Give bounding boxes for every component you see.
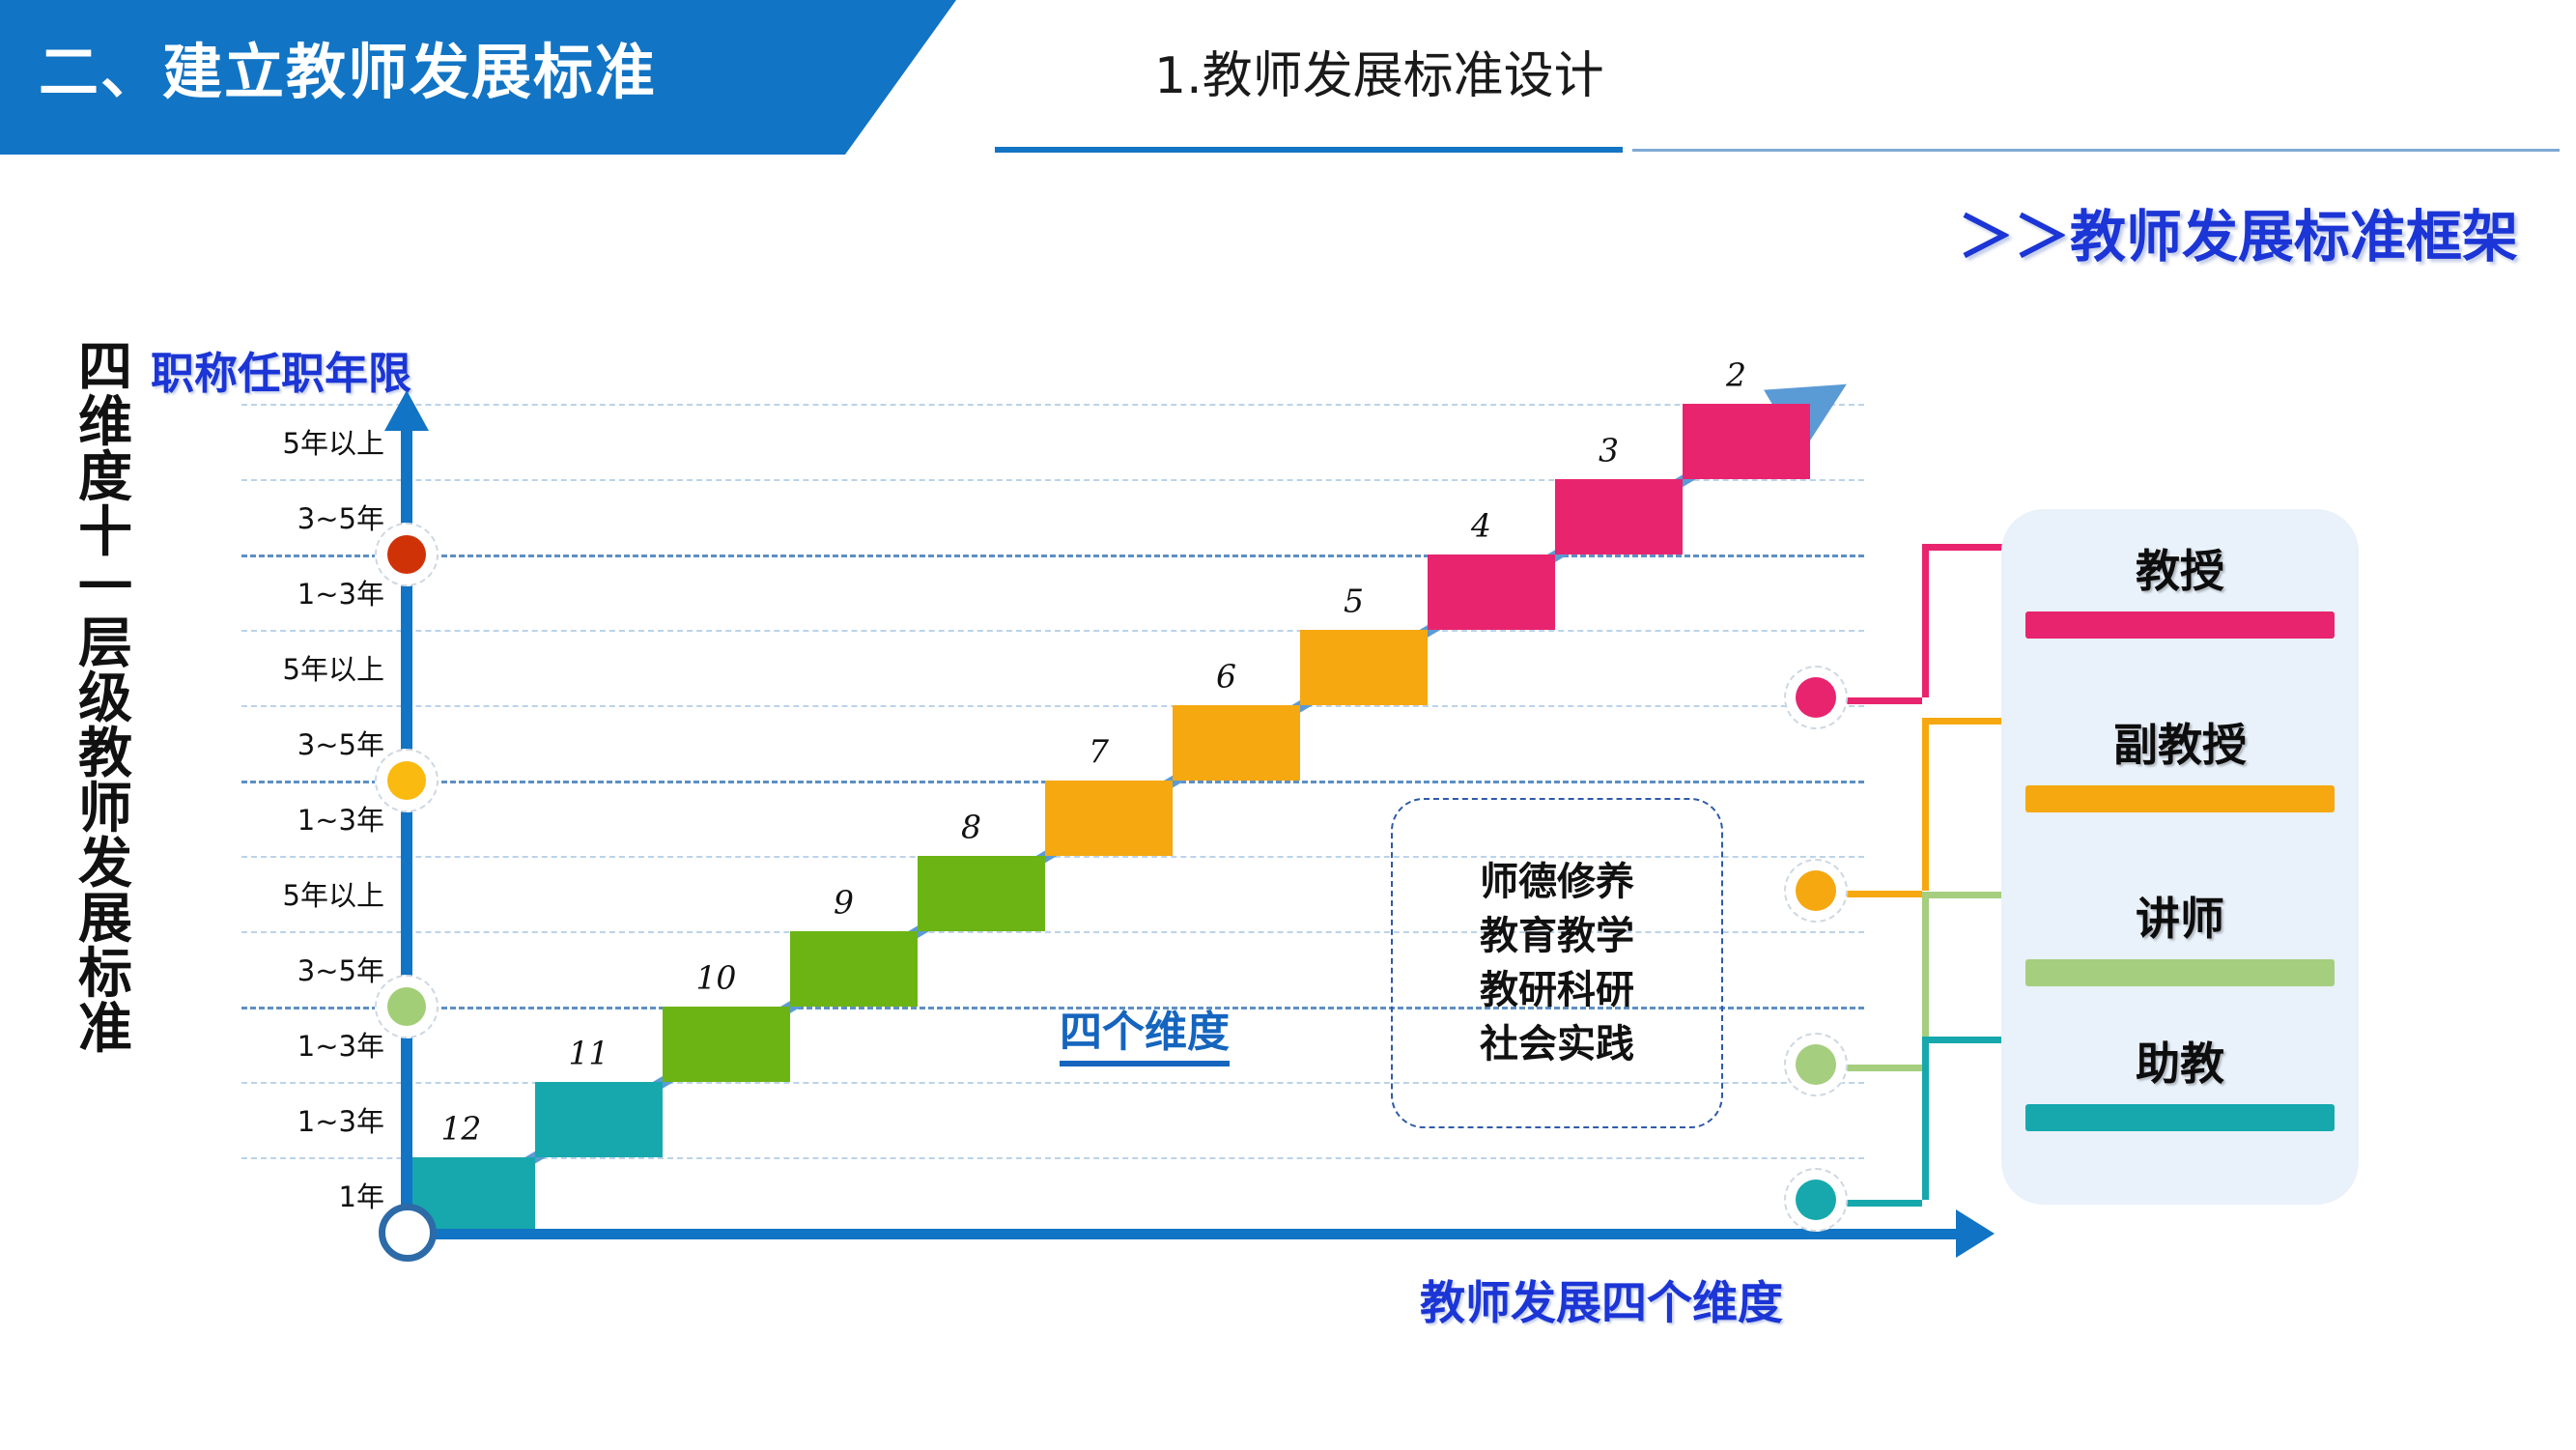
y-tick-label: 3~5年 [297, 497, 384, 537]
staircase-chart: 职称任职年限 教师发展四个维度 1年1~3年1~3年3~5年5年以上1~3年3~… [164, 367, 1864, 1256]
connector-segment [1922, 718, 1929, 891]
step-label: 2 [1726, 356, 1746, 394]
rank-label: 教授 [2001, 536, 2359, 600]
step-label: 12 [440, 1110, 481, 1148]
connector-dot-icon [1796, 1044, 1836, 1085]
header-rule-primary [995, 147, 1623, 153]
staircase-step [535, 1082, 663, 1157]
dimension-item: 社会实践 [1480, 1022, 1634, 1066]
step-label: 6 [1216, 658, 1236, 696]
step-label: 5 [1344, 583, 1364, 620]
grid-line [241, 705, 1864, 707]
staircase-step [1045, 781, 1173, 856]
dimension-item: 师德修养 [1480, 860, 1634, 904]
step-label: 3 [1599, 432, 1619, 469]
staircase-step [1173, 705, 1300, 781]
dimension-item: 教育教学 [1480, 914, 1634, 958]
marker-dot-icon [387, 535, 426, 574]
vertical-side-label: 四维度十一层级教师发展标准 [60, 340, 151, 1057]
rank-label: 助教 [2001, 1029, 2359, 1093]
staircase-step [1300, 630, 1428, 705]
marker-dot-icon [387, 761, 426, 800]
connector-dot-associate-professor[interactable] [1784, 859, 1848, 923]
grid-line [241, 404, 1864, 406]
y-axis-arrow-icon [384, 390, 429, 431]
step-label: 10 [695, 959, 736, 997]
rank-color-bar [2025, 959, 2335, 986]
y-tick-label: 5年以上 [283, 873, 384, 914]
rank-item-lecturer[interactable]: 讲师 [2001, 884, 2359, 986]
y-tick-label: 3~5年 [297, 949, 384, 989]
rank-label: 讲师 [2001, 884, 2359, 948]
four-dimensions-label: 四个维度 [1060, 997, 1230, 1066]
y-axis-title: 职称任职年限 [151, 338, 411, 401]
connector-dot-icon [1796, 1180, 1836, 1220]
y-tick-label: 5年以上 [283, 421, 384, 462]
y-tick-label: 1~3年 [297, 1099, 384, 1140]
slide-header: 二、建立教师发展标准 1.教师发展标准设计 [0, 0, 2576, 155]
dimension-item: 教研科研 [1480, 968, 1634, 1012]
step-label: 9 [834, 884, 854, 922]
step-label: 4 [1471, 507, 1491, 545]
axis-marker-green [375, 975, 439, 1038]
staircase-step [1555, 479, 1683, 554]
dimensions-box: 师德修养 教育教学 教研科研 社会实践 [1391, 798, 1723, 1128]
staircase-step [1683, 404, 1810, 479]
connector-dot-professor[interactable] [1784, 666, 1848, 729]
y-tick-label: 1~3年 [297, 1024, 384, 1065]
y-tick-label: 3~5年 [297, 723, 384, 763]
step-label: 11 [568, 1035, 609, 1072]
rank-color-bar [2025, 785, 2335, 812]
connector-dot-icon [1796, 677, 1836, 718]
section-title: 二、建立教师发展标准 [39, 23, 657, 110]
rank-color-bar [2025, 1104, 2335, 1131]
framework-heading: ＞＞教师发展标准框架 [1958, 191, 2518, 272]
grid-line [241, 630, 1864, 632]
rank-item-associate-professor[interactable]: 副教授 [2001, 710, 2359, 812]
connector-segment [1922, 892, 2004, 898]
step-label: 8 [961, 809, 981, 846]
y-tick-label: 5年以上 [283, 647, 384, 688]
staircase-step [790, 931, 918, 1007]
step-label: 7 [1089, 733, 1109, 771]
connector-dot-assistant[interactable] [1784, 1168, 1848, 1232]
rank-item-assistant[interactable]: 助教 [2001, 1029, 2359, 1131]
connector-segment [1922, 1037, 1929, 1200]
x-axis-title: 教师发展四个维度 [1420, 1265, 1783, 1332]
slide-root: 二、建立教师发展标准 1.教师发展标准设计 ＞＞教师发展标准框架 四维度十一层级… [0, 0, 2576, 1450]
connector-segment [1922, 544, 2004, 551]
x-axis-arrow-icon [1956, 1209, 1995, 1258]
y-tick-label: 1~3年 [297, 798, 384, 839]
staircase-step [918, 856, 1045, 931]
staircase-step [1428, 554, 1555, 630]
x-axis-line [407, 1229, 1962, 1239]
rank-item-professor[interactable]: 教授 [2001, 536, 2359, 639]
vertical-side-label-text: 四维度十一层级教师发展标准 [60, 340, 151, 1057]
y-tick-label: 1年 [339, 1175, 384, 1215]
grid-line [241, 554, 1864, 557]
connector-dot-lecturer[interactable] [1784, 1033, 1848, 1096]
header-rule-secondary [1632, 149, 2560, 152]
rank-color-bar [2025, 611, 2335, 639]
connector-segment [1922, 544, 1929, 697]
staircase-step [663, 1007, 790, 1082]
page-title: 1.教师发展标准设计 [1154, 35, 1604, 107]
rank-panel: 教授 副教授 讲师 助教 [2001, 509, 2359, 1205]
y-tick-label: 1~3年 [297, 572, 384, 612]
connector-dot-icon [1796, 870, 1836, 911]
connector-segment [1922, 718, 2004, 725]
axis-marker-red [375, 523, 439, 586]
origin-marker-icon [379, 1204, 437, 1262]
connector-segment [1922, 1037, 2004, 1043]
rank-label: 副教授 [2001, 710, 2359, 774]
axis-marker-amber [375, 749, 439, 812]
marker-dot-icon [387, 987, 426, 1026]
